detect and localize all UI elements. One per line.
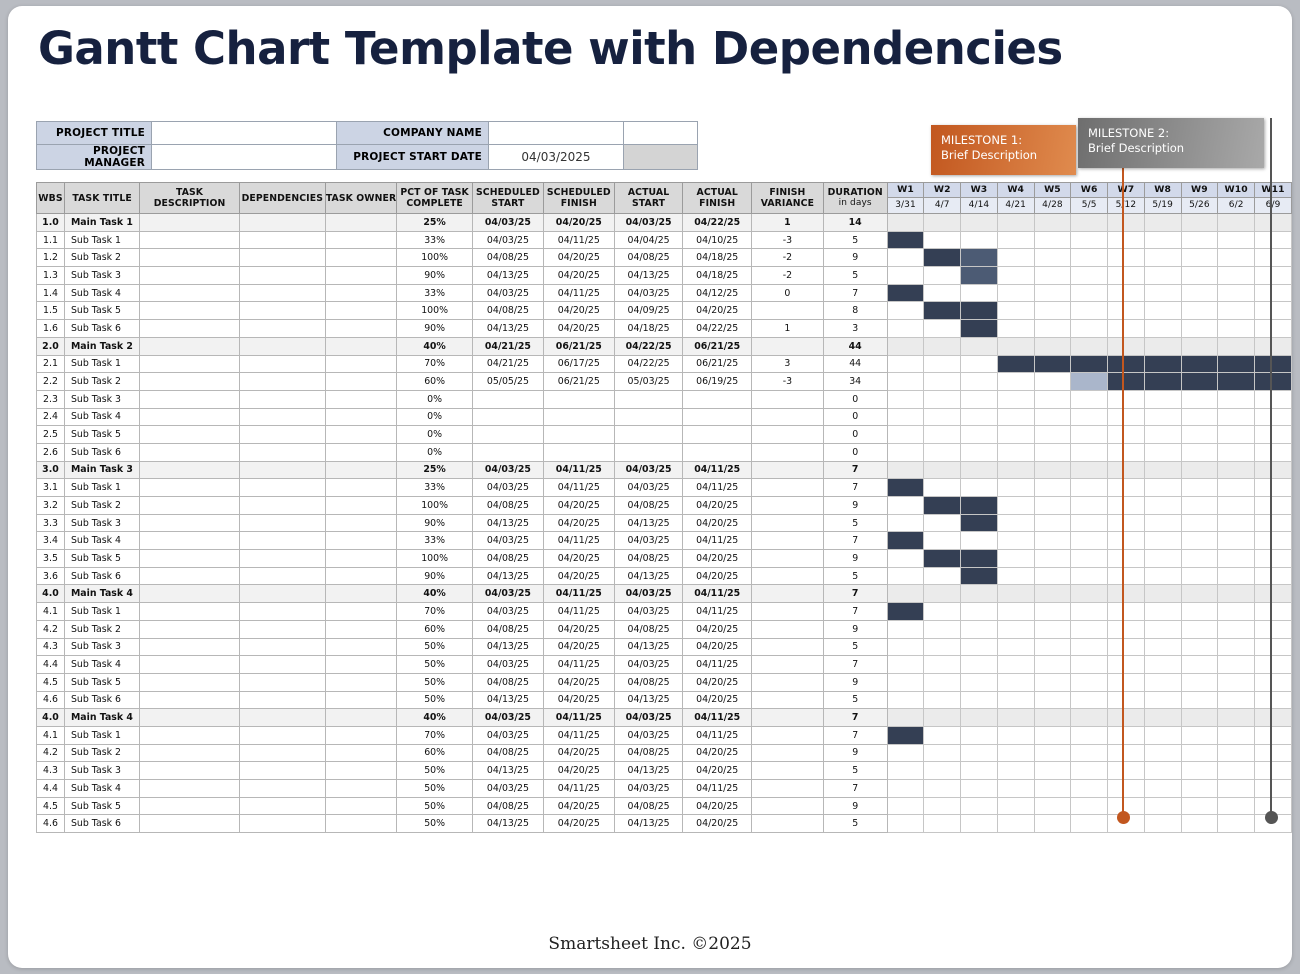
cell-scheduled-start[interactable]: 04/03/25 — [472, 214, 543, 232]
cell-actual-start[interactable] — [614, 390, 683, 408]
gantt-empty-cell[interactable] — [1218, 284, 1255, 302]
cell-duration[interactable]: 9 — [823, 249, 887, 267]
gantt-empty-cell[interactable] — [1255, 673, 1292, 691]
gantt-empty-cell[interactable] — [1255, 443, 1292, 461]
cell-task-description[interactable] — [140, 603, 240, 621]
cell-wbs[interactable]: 4.6 — [37, 815, 65, 833]
gantt-empty-cell[interactable] — [1181, 249, 1218, 267]
gantt-empty-cell[interactable] — [924, 514, 961, 532]
col-header-scheduled-start[interactable]: SCHEDULED START — [472, 183, 543, 214]
gantt-empty-cell[interactable] — [961, 744, 998, 762]
gantt-empty-cell[interactable] — [924, 320, 961, 338]
cell-wbs[interactable]: 4.6 — [37, 691, 65, 709]
gantt-empty-cell[interactable] — [1034, 567, 1071, 585]
cell-task-owner[interactable] — [325, 603, 397, 621]
cell-scheduled-start[interactable]: 04/13/25 — [472, 815, 543, 833]
gantt-empty-cell[interactable] — [1255, 603, 1292, 621]
gantt-empty-cell[interactable] — [1071, 762, 1108, 780]
cell-finish-variance[interactable] — [752, 656, 824, 674]
gantt-empty-cell[interactable] — [887, 390, 924, 408]
table-row[interactable]: 2.4Sub Task 40%0 — [37, 408, 1292, 426]
cell-duration[interactable]: 7 — [823, 585, 887, 603]
cell-scheduled-start[interactable]: 04/03/25 — [472, 709, 543, 727]
table-row[interactable]: 4.4Sub Task 450%04/03/2504/11/2504/03/25… — [37, 780, 1292, 798]
gantt-empty-cell[interactable] — [887, 373, 924, 391]
gantt-empty-cell[interactable] — [997, 231, 1034, 249]
gantt-empty-cell[interactable] — [961, 656, 998, 674]
cell-wbs[interactable]: 4.2 — [37, 744, 65, 762]
cell-actual-finish[interactable] — [683, 408, 752, 426]
gantt-empty-cell[interactable] — [1218, 426, 1255, 444]
gantt-empty-cell[interactable] — [1218, 408, 1255, 426]
gantt-empty-cell[interactable] — [961, 390, 998, 408]
cell-actual-start[interactable]: 05/03/25 — [614, 373, 683, 391]
cell-finish-variance[interactable]: -3 — [752, 231, 824, 249]
cell-wbs[interactable]: 2.3 — [37, 390, 65, 408]
gantt-bar-cell[interactable] — [887, 585, 924, 603]
gantt-empty-cell[interactable] — [924, 479, 961, 497]
cell-pct-complete[interactable]: 33% — [397, 284, 473, 302]
cell-wbs[interactable]: 4.5 — [37, 797, 65, 815]
cell-wbs[interactable]: 4.4 — [37, 656, 65, 674]
cell-dependencies[interactable] — [239, 603, 325, 621]
cell-actual-start[interactable]: 04/03/25 — [614, 585, 683, 603]
gantt-bar-cell[interactable] — [924, 249, 961, 267]
gantt-empty-cell[interactable] — [924, 744, 961, 762]
gantt-empty-cell[interactable] — [887, 744, 924, 762]
gantt-empty-cell[interactable] — [961, 638, 998, 656]
gantt-bar-cell[interactable] — [924, 497, 961, 515]
gantt-empty-cell[interactable] — [1255, 390, 1292, 408]
gantt-empty-cell[interactable] — [924, 620, 961, 638]
cell-task-description[interactable] — [140, 284, 240, 302]
gantt-empty-cell[interactable] — [1181, 780, 1218, 798]
week-header-w4[interactable]: W44/21 — [997, 183, 1034, 214]
cell-duration[interactable]: 9 — [823, 797, 887, 815]
cell-task-owner[interactable] — [325, 390, 397, 408]
gantt-empty-cell[interactable] — [997, 550, 1034, 568]
cell-finish-variance[interactable] — [752, 514, 824, 532]
cell-wbs[interactable]: 4.4 — [37, 780, 65, 798]
gantt-empty-cell[interactable] — [1255, 249, 1292, 267]
gantt-empty-cell[interactable] — [1255, 620, 1292, 638]
gantt-empty-cell[interactable] — [1144, 408, 1181, 426]
gantt-empty-cell[interactable] — [997, 479, 1034, 497]
cell-wbs[interactable]: 3.4 — [37, 532, 65, 550]
gantt-bar-cell[interactable] — [1144, 337, 1181, 355]
cell-wbs[interactable]: 4.0 — [37, 709, 65, 727]
gantt-empty-cell[interactable] — [961, 284, 998, 302]
gantt-empty-cell[interactable] — [961, 479, 998, 497]
cell-task-owner[interactable] — [325, 638, 397, 656]
cell-task-title[interactable]: Main Task 1 — [64, 214, 139, 232]
gantt-empty-cell[interactable] — [1218, 320, 1255, 338]
gantt-empty-cell[interactable] — [1255, 532, 1292, 550]
week-header-w3[interactable]: W34/14 — [961, 183, 998, 214]
cell-actual-finish[interactable]: 06/19/25 — [683, 373, 752, 391]
cell-dependencies[interactable] — [239, 302, 325, 320]
gantt-empty-cell[interactable] — [1108, 726, 1145, 744]
gantt-empty-cell[interactable] — [997, 585, 1034, 603]
gantt-empty-cell[interactable] — [887, 638, 924, 656]
gantt-empty-cell[interactable] — [1181, 479, 1218, 497]
cell-task-owner[interactable] — [325, 373, 397, 391]
gantt-empty-cell[interactable] — [1108, 638, 1145, 656]
gantt-empty-cell[interactable] — [1071, 267, 1108, 285]
gantt-empty-cell[interactable] — [997, 638, 1034, 656]
cell-scheduled-start[interactable]: 04/13/25 — [472, 567, 543, 585]
col-header-task-title[interactable]: TASK TITLE — [64, 183, 139, 214]
cell-dependencies[interactable] — [239, 691, 325, 709]
cell-scheduled-finish[interactable]: 04/20/25 — [543, 497, 614, 515]
table-row[interactable]: 4.4Sub Task 450%04/03/2504/11/2504/03/25… — [37, 656, 1292, 674]
cell-duration[interactable]: 34 — [823, 373, 887, 391]
gantt-empty-cell[interactable] — [924, 267, 961, 285]
table-row[interactable]: 2.3Sub Task 30%0 — [37, 390, 1292, 408]
cell-actual-start[interactable]: 04/08/25 — [614, 497, 683, 515]
cell-task-description[interactable] — [140, 320, 240, 338]
cell-pct-complete[interactable]: 50% — [397, 815, 473, 833]
gantt-empty-cell[interactable] — [1181, 620, 1218, 638]
cell-wbs[interactable]: 3.3 — [37, 514, 65, 532]
cell-dependencies[interactable] — [239, 426, 325, 444]
gantt-bar-cell[interactable] — [1034, 337, 1071, 355]
cell-pct-complete[interactable]: 0% — [397, 390, 473, 408]
gantt-bar-cell[interactable] — [924, 550, 961, 568]
cell-scheduled-finish[interactable]: 04/20/25 — [543, 249, 614, 267]
cell-task-description[interactable] — [140, 373, 240, 391]
table-row[interactable]: 1.4Sub Task 433%04/03/2504/11/2504/03/25… — [37, 284, 1292, 302]
gantt-bar-cell[interactable] — [961, 320, 998, 338]
cell-duration[interactable]: 7 — [823, 479, 887, 497]
gantt-empty-cell[interactable] — [1108, 744, 1145, 762]
cell-task-title[interactable]: Sub Task 1 — [64, 231, 139, 249]
cell-task-title[interactable]: Sub Task 5 — [64, 797, 139, 815]
cell-scheduled-finish[interactable]: 04/20/25 — [543, 638, 614, 656]
gantt-empty-cell[interactable] — [1218, 780, 1255, 798]
gantt-empty-cell[interactable] — [997, 567, 1034, 585]
gantt-empty-cell[interactable] — [1071, 214, 1108, 232]
cell-task-description[interactable] — [140, 337, 240, 355]
gantt-empty-cell[interactable] — [1034, 797, 1071, 815]
cell-dependencies[interactable] — [239, 249, 325, 267]
gantt-bar-cell[interactable] — [887, 479, 924, 497]
cell-pct-complete[interactable]: 100% — [397, 550, 473, 568]
cell-pct-complete[interactable]: 50% — [397, 638, 473, 656]
col-header-finish-variance[interactable]: FINISH VARIANCE — [752, 183, 824, 214]
gantt-empty-cell[interactable] — [1071, 231, 1108, 249]
gantt-empty-cell[interactable] — [1108, 320, 1145, 338]
cell-task-title[interactable]: Sub Task 2 — [64, 620, 139, 638]
gantt-empty-cell[interactable] — [1108, 461, 1145, 479]
gantt-empty-cell[interactable] — [1181, 762, 1218, 780]
gantt-empty-cell[interactable] — [997, 656, 1034, 674]
gantt-empty-cell[interactable] — [887, 780, 924, 798]
gantt-empty-cell[interactable] — [997, 673, 1034, 691]
gantt-bar-cell[interactable] — [997, 337, 1034, 355]
cell-pct-complete[interactable]: 90% — [397, 514, 473, 532]
project-start-date-input[interactable]: 04/03/2025 — [489, 145, 624, 170]
table-row[interactable]: 3.5Sub Task 5100%04/08/2504/20/2504/08/2… — [37, 550, 1292, 568]
cell-scheduled-finish[interactable]: 04/20/25 — [543, 214, 614, 232]
gantt-empty-cell[interactable] — [1144, 726, 1181, 744]
gantt-bar-cell[interactable] — [887, 603, 924, 621]
cell-scheduled-start[interactable]: 04/03/25 — [472, 585, 543, 603]
gantt-empty-cell[interactable] — [1144, 638, 1181, 656]
cell-actual-start[interactable]: 04/13/25 — [614, 267, 683, 285]
gantt-empty-cell[interactable] — [961, 408, 998, 426]
cell-duration[interactable]: 44 — [823, 337, 887, 355]
gantt-empty-cell[interactable] — [1218, 479, 1255, 497]
gantt-empty-cell[interactable] — [1034, 638, 1071, 656]
gantt-empty-cell[interactable] — [1144, 673, 1181, 691]
cell-finish-variance[interactable] — [752, 797, 824, 815]
gantt-empty-cell[interactable] — [1108, 390, 1145, 408]
cell-dependencies[interactable] — [239, 355, 325, 373]
cell-pct-complete[interactable]: 100% — [397, 249, 473, 267]
gantt-empty-cell[interactable] — [961, 355, 998, 373]
cell-task-owner[interactable] — [325, 656, 397, 674]
gantt-empty-cell[interactable] — [887, 620, 924, 638]
gantt-empty-cell[interactable] — [924, 780, 961, 798]
gantt-empty-cell[interactable] — [1034, 214, 1071, 232]
table-row[interactable]: 1.2Sub Task 2100%04/08/2504/20/2504/08/2… — [37, 249, 1292, 267]
gantt-empty-cell[interactable] — [1034, 744, 1071, 762]
cell-task-description[interactable] — [140, 656, 240, 674]
gantt-empty-cell[interactable] — [887, 249, 924, 267]
gantt-empty-cell[interactable] — [1144, 744, 1181, 762]
cell-task-title[interactable]: Sub Task 2 — [64, 744, 139, 762]
cell-finish-variance[interactable] — [752, 390, 824, 408]
cell-wbs[interactable]: 4.2 — [37, 620, 65, 638]
cell-duration[interactable]: 5 — [823, 815, 887, 833]
gantt-bar-cell[interactable] — [1181, 355, 1218, 373]
cell-wbs[interactable]: 2.1 — [37, 355, 65, 373]
gantt-empty-cell[interactable] — [887, 550, 924, 568]
cell-task-owner[interactable] — [325, 709, 397, 727]
cell-pct-complete[interactable]: 40% — [397, 709, 473, 727]
gantt-empty-cell[interactable] — [1218, 390, 1255, 408]
gantt-empty-cell[interactable] — [1144, 532, 1181, 550]
gantt-empty-cell[interactable] — [1108, 426, 1145, 444]
gantt-empty-cell[interactable] — [1071, 691, 1108, 709]
cell-task-title[interactable]: Sub Task 6 — [64, 320, 139, 338]
cell-dependencies[interactable] — [239, 514, 325, 532]
cell-finish-variance[interactable] — [752, 585, 824, 603]
cell-duration[interactable]: 3 — [823, 320, 887, 338]
cell-wbs[interactable]: 4.0 — [37, 585, 65, 603]
cell-task-title[interactable]: Main Task 2 — [64, 337, 139, 355]
cell-scheduled-finish[interactable]: 04/20/25 — [543, 691, 614, 709]
gantt-empty-cell[interactable] — [1108, 532, 1145, 550]
cell-wbs[interactable]: 4.3 — [37, 762, 65, 780]
gantt-empty-cell[interactable] — [1181, 426, 1218, 444]
cell-pct-complete[interactable]: 90% — [397, 567, 473, 585]
cell-task-title[interactable]: Main Task 4 — [64, 709, 139, 727]
gantt-empty-cell[interactable] — [1181, 390, 1218, 408]
cell-scheduled-finish[interactable] — [543, 390, 614, 408]
gantt-empty-cell[interactable] — [1218, 550, 1255, 568]
cell-finish-variance[interactable] — [752, 744, 824, 762]
gantt-empty-cell[interactable] — [1144, 762, 1181, 780]
gantt-empty-cell[interactable] — [1034, 426, 1071, 444]
cell-duration[interactable]: 9 — [823, 673, 887, 691]
cell-task-owner[interactable] — [325, 426, 397, 444]
cell-task-title[interactable]: Sub Task 3 — [64, 514, 139, 532]
cell-actual-start[interactable]: 04/04/25 — [614, 231, 683, 249]
gantt-bar-cell[interactable] — [1255, 337, 1292, 355]
gantt-empty-cell[interactable] — [1218, 302, 1255, 320]
cell-pct-complete[interactable]: 50% — [397, 762, 473, 780]
cell-actual-finish[interactable]: 04/10/25 — [683, 231, 752, 249]
gantt-empty-cell[interactable] — [1181, 497, 1218, 515]
cell-scheduled-start[interactable]: 04/03/25 — [472, 603, 543, 621]
gantt-empty-cell[interactable] — [1034, 585, 1071, 603]
cell-task-owner[interactable] — [325, 691, 397, 709]
cell-dependencies[interactable] — [239, 267, 325, 285]
gantt-empty-cell[interactable] — [1181, 815, 1218, 833]
cell-duration[interactable]: 7 — [823, 284, 887, 302]
week-header-w10[interactable]: W106/2 — [1218, 183, 1255, 214]
table-row[interactable]: 4.5Sub Task 550%04/08/2504/20/2504/08/25… — [37, 797, 1292, 815]
cell-task-description[interactable] — [140, 390, 240, 408]
gantt-empty-cell[interactable] — [1181, 673, 1218, 691]
cell-task-title[interactable]: Sub Task 5 — [64, 550, 139, 568]
gantt-empty-cell[interactable] — [924, 443, 961, 461]
milestone-1-callout[interactable]: MILESTONE 1: Brief Description — [931, 125, 1076, 175]
cell-actual-finish[interactable]: 04/20/25 — [683, 514, 752, 532]
cell-duration[interactable]: 0 — [823, 408, 887, 426]
gantt-empty-cell[interactable] — [1218, 656, 1255, 674]
gantt-empty-cell[interactable] — [1108, 656, 1145, 674]
cell-task-title[interactable]: Sub Task 6 — [64, 443, 139, 461]
cell-wbs[interactable]: 2.6 — [37, 443, 65, 461]
cell-task-description[interactable] — [140, 426, 240, 444]
cell-scheduled-finish[interactable]: 04/11/25 — [543, 656, 614, 674]
gantt-empty-cell[interactable] — [1218, 691, 1255, 709]
gantt-empty-cell[interactable] — [997, 620, 1034, 638]
cell-dependencies[interactable] — [239, 390, 325, 408]
cell-pct-complete[interactable]: 90% — [397, 320, 473, 338]
gantt-bar-cell[interactable] — [887, 726, 924, 744]
gantt-empty-cell[interactable] — [1144, 426, 1181, 444]
gantt-empty-cell[interactable] — [1144, 709, 1181, 727]
gantt-empty-cell[interactable] — [1218, 514, 1255, 532]
cell-scheduled-finish[interactable]: 04/11/25 — [543, 780, 614, 798]
cell-actual-start[interactable]: 04/18/25 — [614, 320, 683, 338]
gantt-empty-cell[interactable] — [1034, 231, 1071, 249]
cell-scheduled-finish[interactable]: 04/20/25 — [543, 267, 614, 285]
gantt-empty-cell[interactable] — [1071, 726, 1108, 744]
gantt-empty-cell[interactable] — [1108, 550, 1145, 568]
cell-duration[interactable]: 8 — [823, 302, 887, 320]
cell-scheduled-start[interactable]: 04/08/25 — [472, 673, 543, 691]
gantt-empty-cell[interactable] — [1255, 408, 1292, 426]
gantt-bar-cell[interactable] — [1108, 373, 1145, 391]
gantt-empty-cell[interactable] — [997, 709, 1034, 727]
cell-scheduled-start[interactable] — [472, 426, 543, 444]
gantt-bar-cell[interactable] — [1144, 373, 1181, 391]
gantt-empty-cell[interactable] — [1071, 567, 1108, 585]
table-row[interactable]: 2.0Main Task 240%04/21/2506/21/2504/22/2… — [37, 337, 1292, 355]
cell-actual-finish[interactable]: 04/11/25 — [683, 709, 752, 727]
cell-task-title[interactable]: Sub Task 4 — [64, 408, 139, 426]
gantt-empty-cell[interactable] — [1034, 320, 1071, 338]
gantt-bar-cell[interactable] — [961, 249, 998, 267]
cell-scheduled-finish[interactable]: 04/20/25 — [543, 673, 614, 691]
gantt-empty-cell[interactable] — [1144, 390, 1181, 408]
week-header-w9[interactable]: W95/26 — [1181, 183, 1218, 214]
gantt-empty-cell[interactable] — [1144, 302, 1181, 320]
gantt-empty-cell[interactable] — [997, 443, 1034, 461]
cell-scheduled-start[interactable]: 04/03/25 — [472, 780, 543, 798]
gantt-empty-cell[interactable] — [1255, 726, 1292, 744]
cell-pct-complete[interactable]: 100% — [397, 302, 473, 320]
cell-duration[interactable]: 9 — [823, 497, 887, 515]
gantt-empty-cell[interactable] — [1034, 408, 1071, 426]
cell-actual-finish[interactable] — [683, 390, 752, 408]
cell-task-title[interactable]: Main Task 4 — [64, 585, 139, 603]
cell-task-description[interactable] — [140, 408, 240, 426]
gantt-bar-cell[interactable] — [887, 461, 924, 479]
cell-dependencies[interactable] — [239, 320, 325, 338]
cell-task-description[interactable] — [140, 355, 240, 373]
gantt-empty-cell[interactable] — [1255, 744, 1292, 762]
cell-task-description[interactable] — [140, 585, 240, 603]
gantt-empty-cell[interactable] — [1108, 691, 1145, 709]
cell-actual-finish[interactable] — [683, 443, 752, 461]
cell-dependencies[interactable] — [239, 797, 325, 815]
cell-scheduled-finish[interactable]: 04/11/25 — [543, 709, 614, 727]
cell-finish-variance[interactable]: 3 — [752, 355, 824, 373]
cell-scheduled-start[interactable]: 04/08/25 — [472, 620, 543, 638]
table-row[interactable]: 3.0Main Task 325%04/03/2504/11/2504/03/2… — [37, 461, 1292, 479]
cell-dependencies[interactable] — [239, 744, 325, 762]
cell-actual-finish[interactable]: 04/20/25 — [683, 302, 752, 320]
cell-actual-finish[interactable]: 04/11/25 — [683, 726, 752, 744]
cell-finish-variance[interactable] — [752, 673, 824, 691]
gantt-empty-cell[interactable] — [1181, 514, 1218, 532]
gantt-empty-cell[interactable] — [1255, 638, 1292, 656]
cell-pct-complete[interactable]: 0% — [397, 426, 473, 444]
cell-task-description[interactable] — [140, 514, 240, 532]
gantt-empty-cell[interactable] — [1108, 214, 1145, 232]
gantt-empty-cell[interactable] — [1255, 762, 1292, 780]
gantt-empty-cell[interactable] — [997, 426, 1034, 444]
gantt-empty-cell[interactable] — [924, 337, 961, 355]
gantt-empty-cell[interactable] — [887, 337, 924, 355]
gantt-bar-cell[interactable] — [961, 302, 998, 320]
gantt-empty-cell[interactable] — [997, 390, 1034, 408]
cell-finish-variance[interactable] — [752, 726, 824, 744]
table-row[interactable]: 3.1Sub Task 133%04/03/2504/11/2504/03/25… — [37, 479, 1292, 497]
gantt-empty-cell[interactable] — [1071, 797, 1108, 815]
cell-task-title[interactable]: Sub Task 3 — [64, 638, 139, 656]
cell-duration[interactable]: 7 — [823, 780, 887, 798]
cell-task-title[interactable]: Sub Task 6 — [64, 815, 139, 833]
cell-task-owner[interactable] — [325, 567, 397, 585]
cell-scheduled-finish[interactable]: 04/11/25 — [543, 231, 614, 249]
cell-task-description[interactable] — [140, 797, 240, 815]
cell-scheduled-finish[interactable]: 04/11/25 — [543, 284, 614, 302]
gantt-empty-cell[interactable] — [1144, 284, 1181, 302]
gantt-empty-cell[interactable] — [997, 284, 1034, 302]
gantt-empty-cell[interactable] — [1071, 585, 1108, 603]
gantt-bar-cell[interactable] — [961, 550, 998, 568]
gantt-empty-cell[interactable] — [887, 691, 924, 709]
gantt-empty-cell[interactable] — [961, 780, 998, 798]
cell-actual-finish[interactable]: 04/20/25 — [683, 638, 752, 656]
